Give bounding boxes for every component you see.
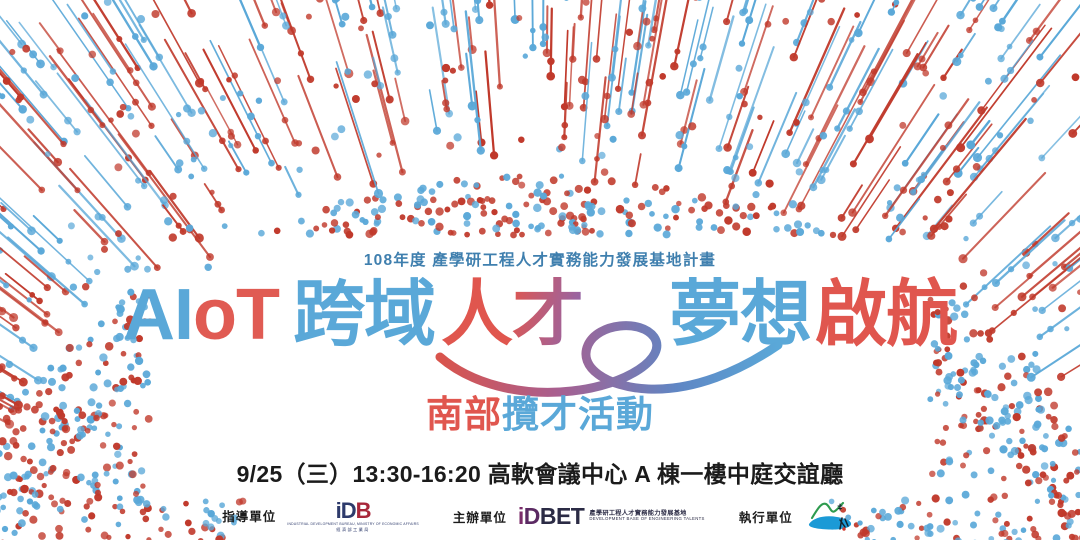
event-poster: 108年度 產學研工程人才實務能力發展基地計畫 AIoT跨域人才夢想啟航 南部攬…: [0, 0, 1080, 540]
poster-subtitle: 108年度 產學研工程人才實務能力發展基地計畫: [0, 248, 1080, 270]
poster-content: 108年度 產學研工程人才實務能力發展基地計畫 AIoT跨域人才夢想啟航 南部攬…: [0, 0, 1080, 540]
idbet-mark-t: T: [571, 503, 585, 529]
date-venue-bar: 9/25（三）13:30-16:20 高軟會議中心 A 棟一樓中庭交誼廳: [0, 455, 1080, 489]
title-qihang: 啟航: [815, 275, 957, 355]
sponsor-organizer: 主辦單位 iDBET 產學研工程人才實務能力發展基地 DEVELOPMENT B…: [453, 505, 705, 528]
nsysu-logo-icon: [804, 496, 858, 536]
sub-heading-red: 南部: [426, 394, 502, 435]
title-kuayu: 跨域: [293, 275, 435, 355]
idbet-logo-en: DEVELOPMENT BASE OF ENGINEERING TALENTS: [589, 517, 704, 522]
idbet-mark-d: D: [524, 503, 540, 529]
idb-logo: iDB INDUSTRIAL DEVELOPMENT BUREAU, MINIS…: [287, 500, 419, 532]
idbet-mark-be: BE: [540, 503, 571, 529]
sponsor-executor: 執行單位: [739, 496, 858, 536]
title-mengxiang: 夢想: [669, 275, 811, 355]
sponsor-row: 指導單位 iDB INDUSTRIAL DEVELOPMENT BUREAU, …: [0, 492, 1080, 540]
idb-logo-mark: iDB: [336, 500, 371, 522]
idb-logo-cn: 經濟部工業局: [336, 528, 370, 532]
idb-mark-b: B: [356, 498, 371, 523]
title-ot: oT: [193, 275, 279, 355]
title-ai: AI: [123, 275, 193, 355]
idbet-logo: iDBET 產學研工程人才實務能力發展基地 DEVELOPMENT BASE O…: [518, 505, 705, 528]
sponsor-guidance: 指導單位 iDB INDUSTRIAL DEVELOPMENT BUREAU, …: [222, 500, 419, 532]
title-cai: 才: [512, 275, 583, 355]
poster-title: AIoT跨域人才夢想啟航: [0, 279, 1080, 351]
idbet-logo-mark: iDBET: [518, 505, 585, 528]
sponsor-label-organizer: 主辦單位: [453, 507, 507, 526]
sub-heading-blue: 攬才活動: [502, 394, 654, 435]
sponsor-label-guidance: 指導單位: [222, 506, 276, 525]
poster-sub-heading: 南部攬才活動: [0, 396, 1080, 433]
idb-mark-d: D: [341, 498, 356, 523]
title-ren: 人: [441, 275, 512, 355]
sponsor-label-executor: 執行單位: [739, 507, 793, 526]
idbet-logo-text: 產學研工程人才實務能力發展基地 DEVELOPMENT BASE OF ENGI…: [589, 510, 704, 522]
